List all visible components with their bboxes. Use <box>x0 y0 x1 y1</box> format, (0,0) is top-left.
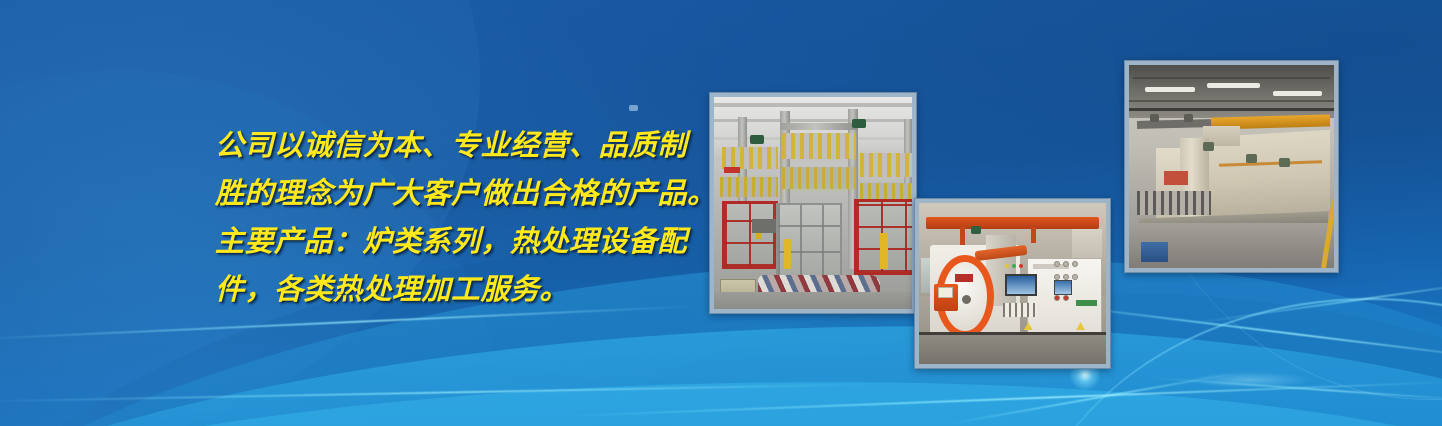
headline-line-4: 件，各类热处理加工服务。 <box>215 266 735 314</box>
p2-crane-hoist <box>971 226 981 234</box>
p1-yellow-bar-left <box>784 239 791 269</box>
p2-crane-leg-right <box>1031 227 1036 243</box>
photo-continuous-furnace-line[interactable] <box>1124 60 1339 273</box>
p2-knob[interactable] <box>1063 274 1069 280</box>
p3-roof-truss-a <box>1129 108 1334 111</box>
p2-floor <box>919 335 1106 364</box>
p1-hoist-right <box>852 119 866 128</box>
p3-circulation-fan-1 <box>1203 142 1214 151</box>
photo-3-image <box>1129 65 1334 268</box>
p2-knob[interactable] <box>1063 261 1069 267</box>
p3-circulation-fan-3 <box>1279 158 1290 167</box>
p1-rack-center-lower <box>782 167 856 189</box>
p2-knob[interactable] <box>1054 274 1060 280</box>
company-hero-banner: 公司以诚信为本、专业经营、品质制 胜的理念为广大客户做出合格的产品。 主要产品：… <box>0 0 1442 426</box>
p2-led-yellow <box>1005 264 1009 268</box>
p3-blue-container <box>1141 242 1168 262</box>
p2-emergency-button[interactable] <box>1054 295 1060 301</box>
p3-crane-trolley-left <box>1150 114 1159 122</box>
p1-yellow-bar-right <box>880 233 888 269</box>
p3-circulation-fan-2 <box>1246 154 1257 163</box>
p2-green-strip <box>1076 300 1097 306</box>
p2-indicator-lights <box>1005 264 1023 268</box>
p2-led-red <box>1019 264 1023 268</box>
p2-button-matrix[interactable] <box>1003 303 1037 317</box>
photo-2-image <box>919 203 1106 364</box>
headline-line-3: 主要产品：炉类系列，热处理设备配 <box>215 218 735 266</box>
p3-control-panel <box>1164 171 1189 185</box>
p2-cabinet-knob-row-1[interactable] <box>1054 261 1078 267</box>
p1-floor <box>714 292 912 309</box>
headline-line-2: 胜的理念为广大客户做出合格的产品。 <box>215 170 735 218</box>
p2-crane-leg-left <box>960 227 965 246</box>
p3-skylight-left <box>1145 87 1194 92</box>
photo-bell-furnace-hall[interactable] <box>709 92 917 314</box>
p3-roof-truss-b <box>1129 100 1334 102</box>
p2-emergency-button[interactable] <box>1063 295 1069 301</box>
p3-roller-conveyor <box>1137 191 1211 215</box>
p2-door-latch <box>962 295 971 304</box>
p1-gantry-top <box>780 123 858 130</box>
p2-hmi-touchscreen[interactable] <box>1005 274 1037 297</box>
p2-secondary-display[interactable] <box>1054 280 1073 294</box>
p3-skylight-right <box>1273 91 1322 96</box>
p2-knob[interactable] <box>1072 274 1078 280</box>
p2-knob[interactable] <box>1072 261 1078 267</box>
p3-roof-truss-c <box>1133 77 1330 79</box>
photo-1-image <box>714 97 912 309</box>
headline-line-1: 公司以诚信为本、专业经营、品质制 <box>215 122 735 170</box>
p3-skylight-mid <box>1207 83 1260 88</box>
p3-crane-trolley-right <box>1184 114 1193 122</box>
p2-cabinet-switch-row[interactable] <box>1054 295 1069 301</box>
p2-red-nameplate <box>955 274 974 282</box>
p1-rack-right-upper <box>860 153 912 177</box>
p2-knob[interactable] <box>1054 261 1060 267</box>
p2-overhead-crane <box>926 217 1098 228</box>
p2-door-warning-label <box>938 287 953 298</box>
headline-block: 公司以诚信为本、专业经营、品质制 胜的理念为广大客户做出合格的产品。 主要产品：… <box>215 122 735 314</box>
p1-rack-center-upper <box>782 133 856 159</box>
p2-cabinet-knob-row-2[interactable] <box>1054 274 1078 280</box>
photo-vacuum-furnace[interactable] <box>914 198 1111 369</box>
p2-led-green <box>1012 264 1016 268</box>
p1-control-box <box>752 219 776 233</box>
p1-hoist-left <box>750 135 764 144</box>
p1-ceiling-beam-a <box>714 103 912 107</box>
